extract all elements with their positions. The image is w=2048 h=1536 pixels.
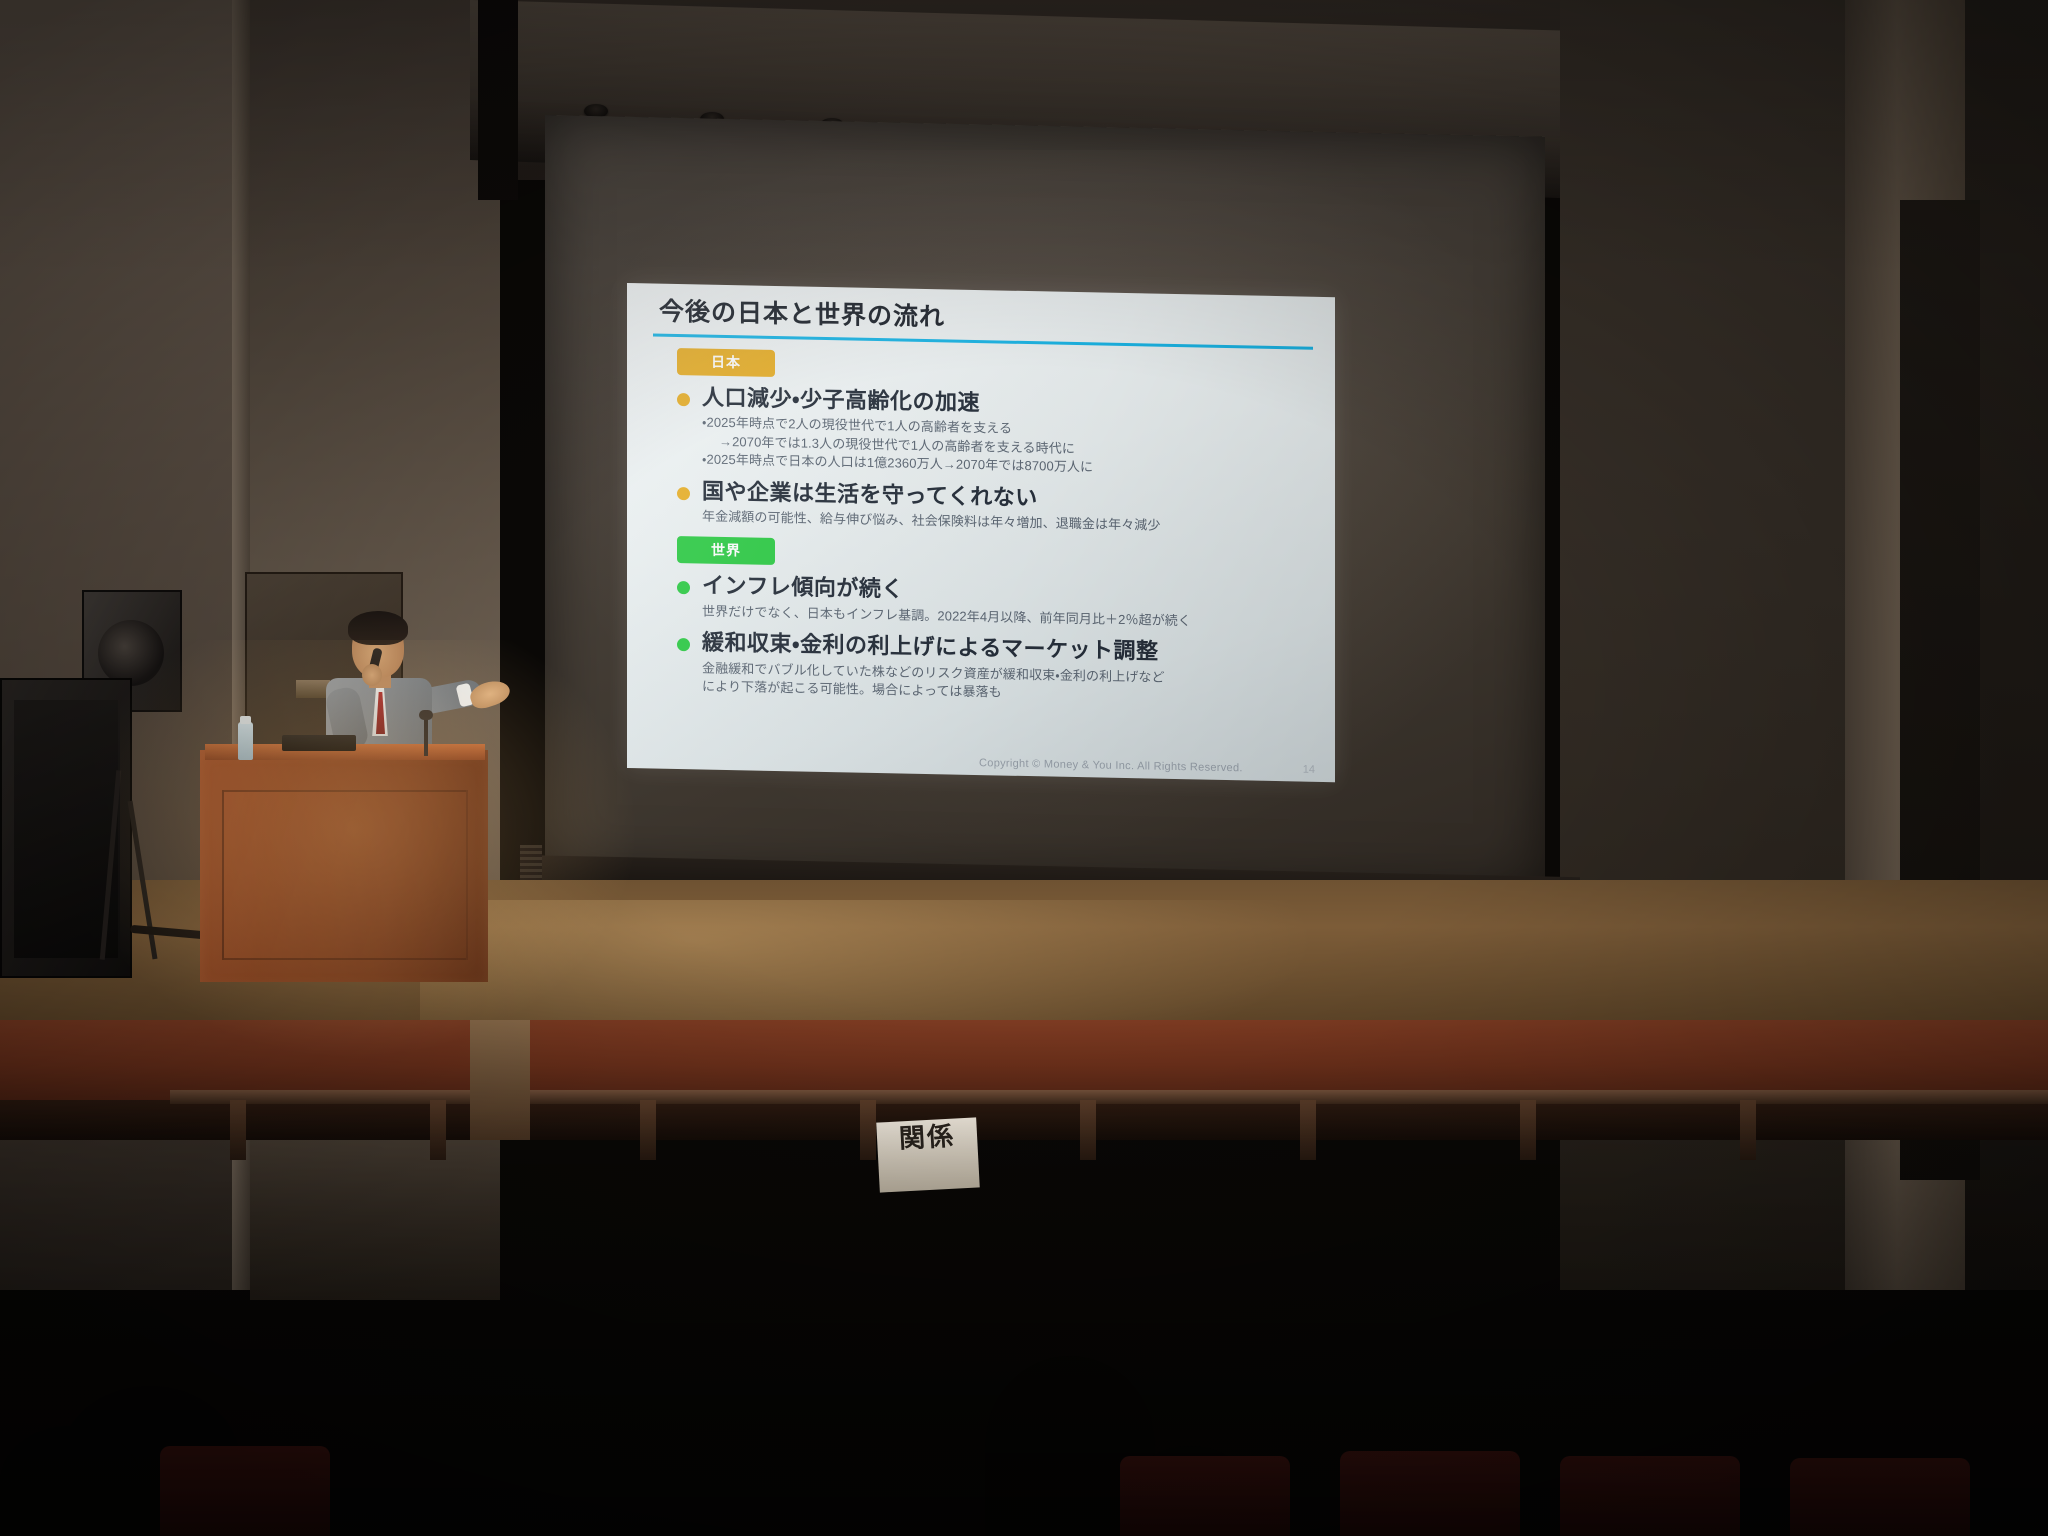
rail-post xyxy=(1080,1100,1096,1160)
rail-post xyxy=(640,1100,656,1160)
stage-step xyxy=(470,1020,530,1140)
ceiling-shadow xyxy=(478,0,518,200)
bullet-heading: インフレ傾向が続く xyxy=(702,573,904,603)
presentation-slide: 今後の日本と世界の流れ 日本 人口減少・少子高齢化の加速 ・2025年時点で2人… xyxy=(627,283,1335,782)
podium-mic-stand xyxy=(424,716,428,756)
bullet-dot-icon xyxy=(677,581,690,594)
door-handle-icon xyxy=(296,680,330,698)
bullet-subtext: ・2025年時点で2人の現役世代で1人の高齢者を支える →2070年では1.3人… xyxy=(653,413,1313,482)
bullet-heading: 国や企業は生活を守ってくれない xyxy=(702,478,1038,511)
audience-head-silhouette xyxy=(0,1426,140,1536)
laptop-on-podium xyxy=(282,735,356,751)
seat-back xyxy=(1120,1456,1290,1536)
presenter-hair xyxy=(348,611,408,645)
podium-mic-head-icon xyxy=(419,710,433,720)
bullet-dot-icon xyxy=(677,638,690,651)
seat-back xyxy=(1560,1456,1740,1536)
pa-speaker-cone-icon xyxy=(98,620,164,686)
slide-page-number: 14 xyxy=(1303,764,1315,776)
seat-back xyxy=(160,1446,330,1536)
water-bottle xyxy=(238,722,253,760)
podium-front-panel xyxy=(222,790,468,960)
section-badge-japan: 日本 xyxy=(677,348,775,377)
water-bottle-cap xyxy=(240,716,251,724)
rail-post xyxy=(1740,1100,1756,1160)
rail-post xyxy=(1520,1100,1536,1160)
slide-section-world: 世界 インフレ傾向が続く 世界だけでなく、日本もインフレ基調。2022年4月以降… xyxy=(653,525,1313,708)
rail-post xyxy=(230,1100,246,1160)
bullet-dot-icon xyxy=(677,487,690,500)
audience-placard: 関係 xyxy=(876,1117,980,1192)
slide-title: 今後の日本と世界の流れ xyxy=(653,298,1313,340)
seat-back xyxy=(1340,1451,1520,1536)
presentation-photo-scene: 今後の日本と世界の流れ 日本 人口減少・少子高齢化の加速 ・2025年時点で2人… xyxy=(0,0,2048,1536)
stage-front-rail xyxy=(170,1090,2048,1104)
rail-post xyxy=(430,1100,446,1160)
slide-section-japan: 日本 人口減少・少子高齢化の加速 ・2025年時点で2人の現役世代で1人の高齢者… xyxy=(653,336,1313,538)
seat-back xyxy=(1790,1458,1970,1536)
presenter-mic-hand xyxy=(362,664,382,686)
bullet-dot-icon xyxy=(677,393,690,406)
rail-post xyxy=(1300,1100,1316,1160)
section-badge-world: 世界 xyxy=(677,536,775,565)
bullet-heading: 人口減少・少子高齢化の加速 xyxy=(702,384,980,416)
rail-post xyxy=(860,1100,876,1160)
copyright-text: Copyright © Money & You Inc. All Rights … xyxy=(979,757,1243,774)
subtext-line: により下落が起こる可能性。場合によっては暴落も xyxy=(702,679,1002,700)
